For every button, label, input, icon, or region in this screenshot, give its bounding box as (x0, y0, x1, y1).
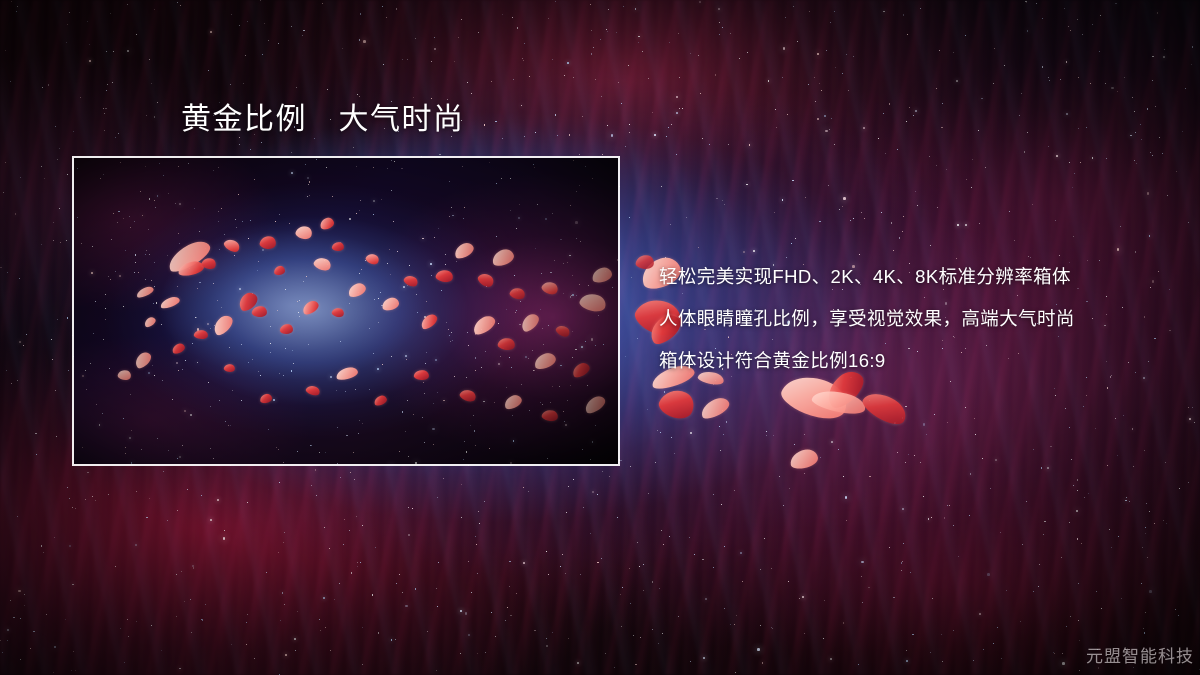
framed-photo[interactable] (72, 156, 620, 466)
page-title: 黄金比例 大气时尚 (181, 101, 465, 139)
photo-vignette (74, 158, 618, 464)
body-line-3: 箱体设计符合黄金比例16:9 (659, 340, 1179, 382)
body-line-2: 人体眼睛瞳孔比例，享受视觉效果，高端大气时尚 (659, 298, 1179, 340)
watermark: 元盟智能科技 (1086, 642, 1194, 667)
slide-canvas: 黄金比例 大气时尚 轻松完美实现FHD、2K、4K、8K标准分辨率箱体 人体眼睛… (0, 0, 1200, 675)
body-text-block: 轻松完美实现FHD、2K、4K、8K标准分辨率箱体 人体眼睛瞳孔比例，享受视觉效… (659, 256, 1179, 382)
body-line-1: 轻松完美实现FHD、2K、4K、8K标准分辨率箱体 (659, 256, 1179, 298)
